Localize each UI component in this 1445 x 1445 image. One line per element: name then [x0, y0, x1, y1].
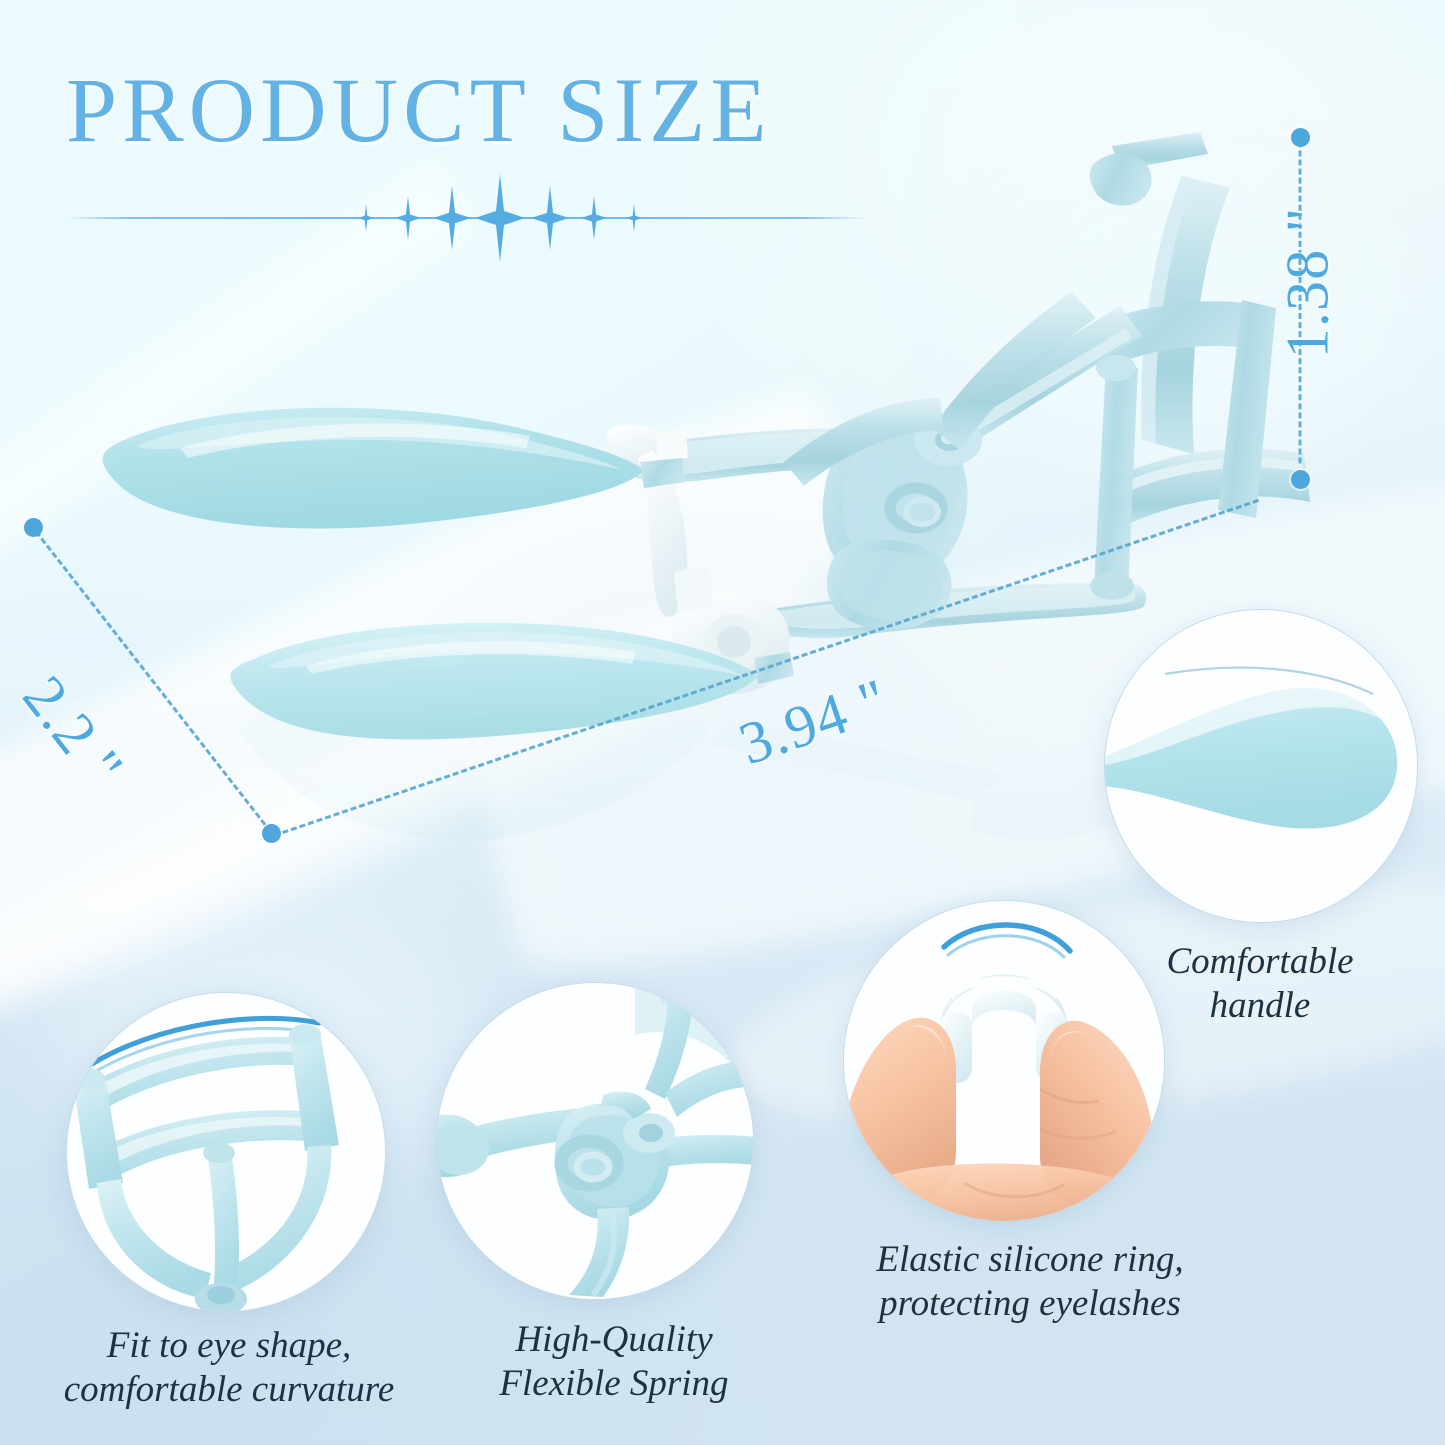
feature-caption-flexible-spring: High-Quality Flexible Spring — [454, 1318, 774, 1407]
teardrop-handle-icon — [1105, 610, 1417, 922]
infographic-canvas: PRODUCT SIZE — [0, 0, 1445, 1445]
dimension-label-height: 1.38 " — [1273, 207, 1342, 359]
curler-head-front-icon — [67, 993, 385, 1311]
feature-caption-silicone-ring: Elastic silicone ring, protecting eyelas… — [830, 1238, 1230, 1327]
feature-circle-comfortable-handle — [1104, 609, 1418, 923]
dimension-endpoint-dot — [1291, 470, 1310, 489]
feature-circle-silicone-ring — [843, 900, 1165, 1222]
feature-circle-eye-shape — [66, 992, 386, 1312]
feature-caption-eye-shape: Fit to eye shape, comfortable curvature — [36, 1324, 422, 1413]
feature-circle-flexible-spring — [436, 982, 754, 1300]
spring-hinge-icon — [437, 983, 753, 1299]
fingers-holding-silicone-pad-icon — [844, 901, 1164, 1221]
